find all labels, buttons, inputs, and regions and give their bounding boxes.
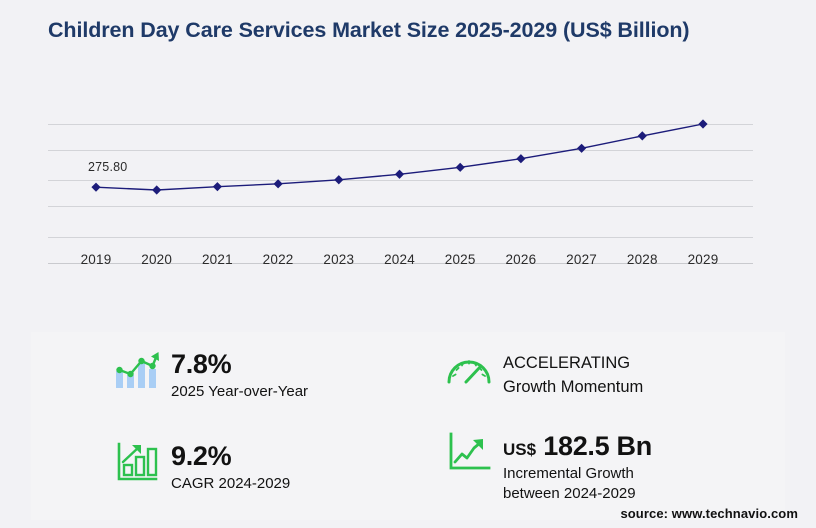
data-point-marker — [213, 182, 222, 191]
x-axis-tick-label: 2028 — [627, 252, 658, 267]
stat-card-incremental: US$ 182.5 Bn Incremental Growth between … — [441, 432, 652, 505]
stat-text-incremental: US$ 182.5 Bn Incremental Growth between … — [497, 432, 652, 505]
x-axis-tick-label: 2026 — [505, 252, 536, 267]
x-axis-tick-label: 2019 — [81, 252, 112, 267]
series-markers — [91, 119, 707, 194]
stat-value-yoy: 7.8% — [171, 350, 308, 379]
data-point-marker — [698, 119, 707, 128]
data-point-label: 275.80 — [88, 160, 127, 174]
page-title: Children Day Care Services Market Size 2… — [48, 16, 748, 44]
chart-plot-area: 275.80 — [48, 110, 753, 250]
line-chart: 275.80 201920202021202220232024202520262… — [0, 96, 816, 286]
bar-chart-arrow-icon — [109, 442, 165, 482]
line-chart-arrow-icon — [441, 432, 497, 472]
data-point-marker — [516, 154, 525, 163]
x-axis-tick-label: 2022 — [263, 252, 294, 267]
x-axis-tick-label: 2020 — [141, 252, 172, 267]
series-market-size — [48, 110, 753, 270]
bar-chart-trend-up-icon — [109, 350, 165, 390]
data-point-marker — [152, 185, 161, 194]
data-point-marker — [334, 175, 343, 184]
stat-text-cagr: 9.2% CAGR 2024-2029 — [165, 442, 290, 494]
stat-value-cagr: 9.2% — [171, 442, 290, 471]
series-line — [96, 124, 703, 190]
data-point-marker — [91, 183, 100, 192]
x-axis-tick-label: 2023 — [323, 252, 354, 267]
x-axis-tick-label: 2024 — [384, 252, 415, 267]
x-axis-labels: 2019202020212022202320242025202620272028… — [48, 252, 753, 278]
source-attribution: source: www.technavio.com — [620, 506, 798, 521]
momentum-state: ACCELERATING — [503, 352, 643, 376]
currency-unit: US$ — [503, 440, 536, 459]
incremental-label-line2: between 2024-2029 — [503, 484, 652, 504]
stat-label-yoy: 2025 Year-over-Year — [171, 382, 308, 402]
stat-value-incremental: US$ 182.5 Bn — [503, 432, 652, 461]
stat-text-momentum: ACCELERATING Growth Momentum — [497, 352, 643, 400]
data-point-marker — [274, 179, 283, 188]
stat-card-yoy: 7.8% 2025 Year-over-Year — [109, 350, 308, 402]
x-axis-tick-label: 2021 — [202, 252, 233, 267]
stats-panel: 7.8% 2025 Year-over-Year — [31, 332, 785, 520]
data-point-marker — [577, 144, 586, 153]
x-axis-tick-label: 2029 — [688, 252, 719, 267]
momentum-label: Growth Momentum — [503, 376, 643, 400]
infographic-root: Children Day Care Services Market Size 2… — [0, 0, 816, 528]
stat-card-momentum: ACCELERATING Growth Momentum — [441, 352, 643, 400]
stat-text-yoy: 7.8% 2025 Year-over-Year — [165, 350, 308, 402]
x-axis-tick-label: 2027 — [566, 252, 597, 267]
data-point-marker — [395, 170, 404, 179]
data-point-marker — [638, 131, 647, 140]
speedometer-icon — [441, 352, 497, 386]
data-point-marker — [456, 163, 465, 172]
x-axis-tick-label: 2025 — [445, 252, 476, 267]
incremental-label-line1: Incremental Growth — [503, 464, 652, 484]
incremental-amount: 182.5 Bn — [543, 431, 652, 461]
stat-label-cagr: CAGR 2024-2029 — [171, 474, 290, 494]
stat-card-cagr: 9.2% CAGR 2024-2029 — [109, 442, 290, 494]
